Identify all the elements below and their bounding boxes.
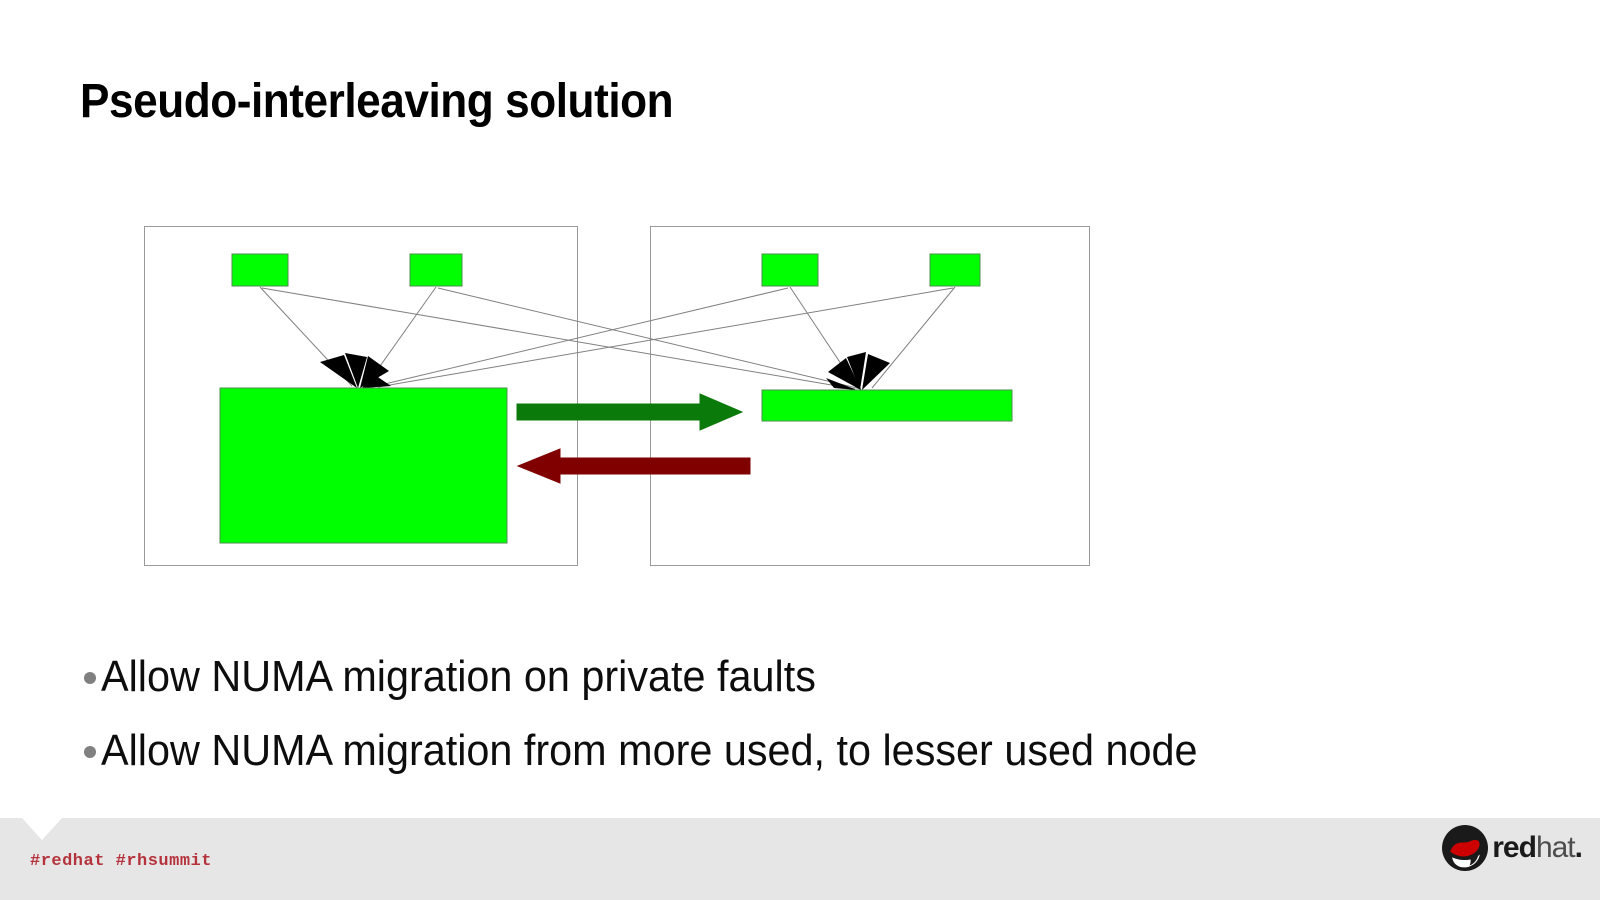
memory-block-right (762, 390, 1012, 421)
connector-line (260, 287, 352, 386)
brand-period: . (1575, 831, 1582, 864)
right-numa-node-box (651, 227, 1090, 566)
connector-line (438, 288, 861, 389)
connector-line (262, 288, 855, 389)
arrowhead (828, 358, 861, 390)
slide-footer: #redhat #rhsummit (0, 818, 1600, 900)
arrow-migrate-right (517, 394, 742, 430)
arrowhead (320, 355, 357, 388)
memory-block-left (220, 388, 507, 543)
redhat-shadowman-logo-icon (1442, 825, 1488, 871)
page-title: Pseudo-interleaving solution (80, 74, 673, 129)
arrowhead-cluster-right (826, 352, 890, 390)
bullet-list: Allow NUMA migration on private faults A… (84, 648, 1534, 796)
connector-line (872, 287, 955, 388)
brand-word-hat: hat (1536, 831, 1575, 864)
bullet-text: Allow NUMA migration on private faults (101, 648, 816, 706)
connector-line (790, 287, 857, 388)
connector-line (366, 287, 436, 386)
task-block (762, 254, 818, 286)
arrowhead (862, 354, 890, 390)
arrowhead (826, 378, 857, 390)
footer-hashtags: #redhat #rhsummit (30, 852, 212, 871)
task-block (930, 254, 980, 286)
task-block (232, 254, 288, 286)
brand-word-red: red (1492, 831, 1536, 864)
bullet-dot-icon (84, 672, 96, 684)
bullet-text: Allow NUMA migration from more used, to … (101, 722, 1198, 780)
list-item: Allow NUMA migration on private faults (84, 648, 1534, 706)
arrow-migrate-left (518, 449, 750, 483)
arrowhead-cluster-left (320, 353, 391, 388)
arrowhead (345, 353, 367, 388)
connector-line (372, 288, 788, 387)
brand-wordmark: redhat. (1492, 831, 1582, 865)
footer-notch-icon (22, 818, 62, 840)
arrowhead (362, 373, 391, 388)
bullet-dot-icon (84, 746, 96, 758)
arrowhead (847, 352, 866, 390)
list-item: Allow NUMA migration from more used, to … (84, 722, 1534, 780)
connector-line (378, 288, 953, 387)
task-block (410, 254, 462, 286)
redhat-brand-lockup: redhat. (1442, 822, 1582, 874)
arrowhead (360, 356, 389, 388)
left-numa-node-box (145, 227, 578, 566)
